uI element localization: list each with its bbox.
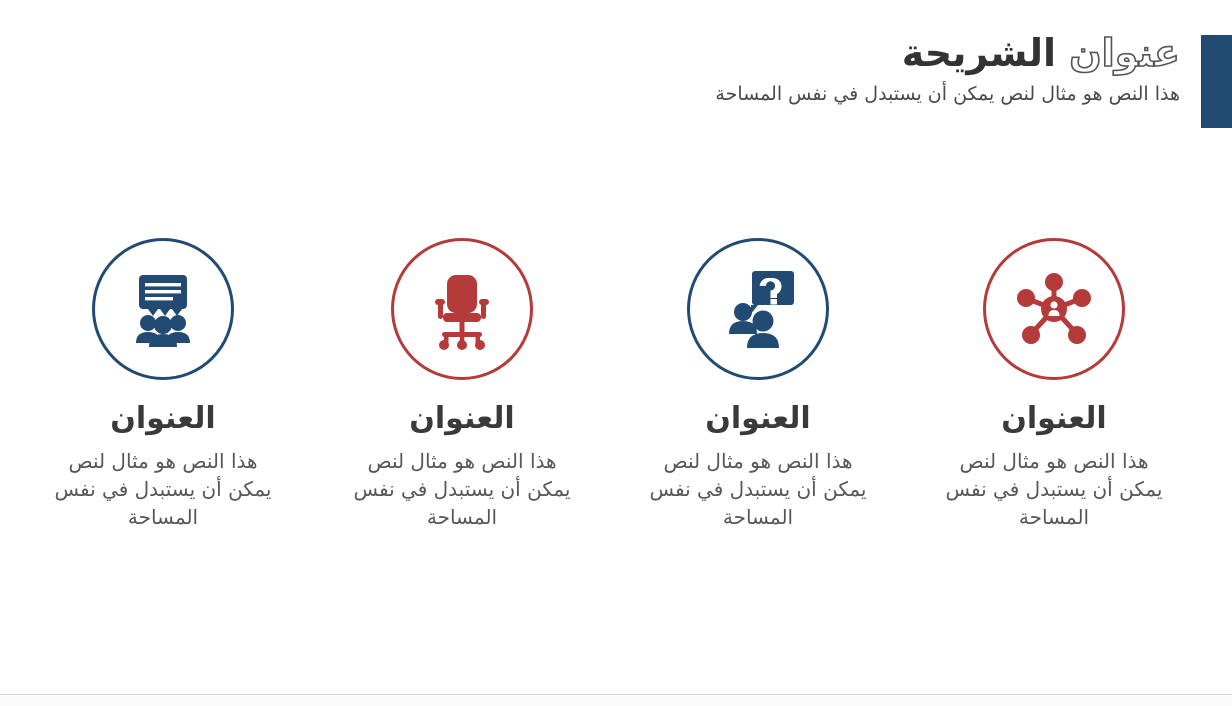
feature-heading: العنوان (28, 402, 298, 437)
feature-column[interactable]: العنوان هذا النص هو مثال لنص يمكن أن يست… (15, 238, 311, 532)
feature-column-text: العنوان هذا النص هو مثال لنص يمكن أن يست… (28, 402, 298, 532)
accent-bar (1201, 35, 1232, 128)
feature-column-text: العنوان هذا النص هو مثال لنص يمكن أن يست… (919, 402, 1189, 532)
page-subtitle: هذا النص هو مثال لنص يمكن أن يستبدل في ن… (540, 82, 1180, 107)
feature-body: هذا النص هو مثال لنص يمكن أن يستبدل في ن… (643, 447, 873, 532)
slide-canvas: عنوان الشريحة هذا النص هو مثال لنص يمكن … (0, 0, 1232, 706)
icon-circle-office-chair[interactable] (391, 238, 533, 380)
feature-column-text: العنوان هذا النص هو مثال لنص يمكن أن يست… (623, 402, 893, 532)
page-title-outline-part: عنوان (1069, 31, 1180, 75)
feature-body: هذا النص هو مثال لنص يمكن أن يستبدل في ن… (347, 447, 577, 532)
feature-heading: العنوان (919, 402, 1189, 437)
group-speech-bubble-icon (115, 261, 211, 357)
slide-header: عنوان الشريحة هذا النص هو مثال لنص يمكن … (540, 32, 1180, 106)
icon-circle-network-hub[interactable] (983, 238, 1125, 380)
feature-columns: العنوان هذا النص هو مثال لنص يمكن أن يست… (0, 238, 1232, 532)
footer-strip (0, 695, 1232, 706)
people-question-bubble-icon (710, 261, 806, 357)
feature-column[interactable]: العنوان هذا النص هو مثال لنص يمكن أن يست… (906, 238, 1202, 532)
feature-column-text: العنوان هذا النص هو مثال لنص يمكن أن يست… (327, 402, 597, 532)
office-chair-icon (414, 261, 510, 357)
page-title-solid-part: الشريحة (902, 31, 1056, 75)
feature-heading: العنوان (327, 402, 597, 437)
icon-circle-people-question-bubble[interactable] (687, 238, 829, 380)
feature-column[interactable]: العنوان هذا النص هو مثال لنص يمكن أن يست… (610, 238, 906, 532)
feature-column[interactable]: العنوان هذا النص هو مثال لنص يمكن أن يست… (314, 238, 610, 532)
page-title: عنوان الشريحة (540, 32, 1180, 76)
feature-heading: العنوان (623, 402, 893, 437)
feature-body: هذا النص هو مثال لنص يمكن أن يستبدل في ن… (48, 447, 278, 532)
network-hub-person-icon (1006, 261, 1102, 357)
feature-body: هذا النص هو مثال لنص يمكن أن يستبدل في ن… (939, 447, 1169, 532)
icon-circle-group-speech-bubble[interactable] (92, 238, 234, 380)
